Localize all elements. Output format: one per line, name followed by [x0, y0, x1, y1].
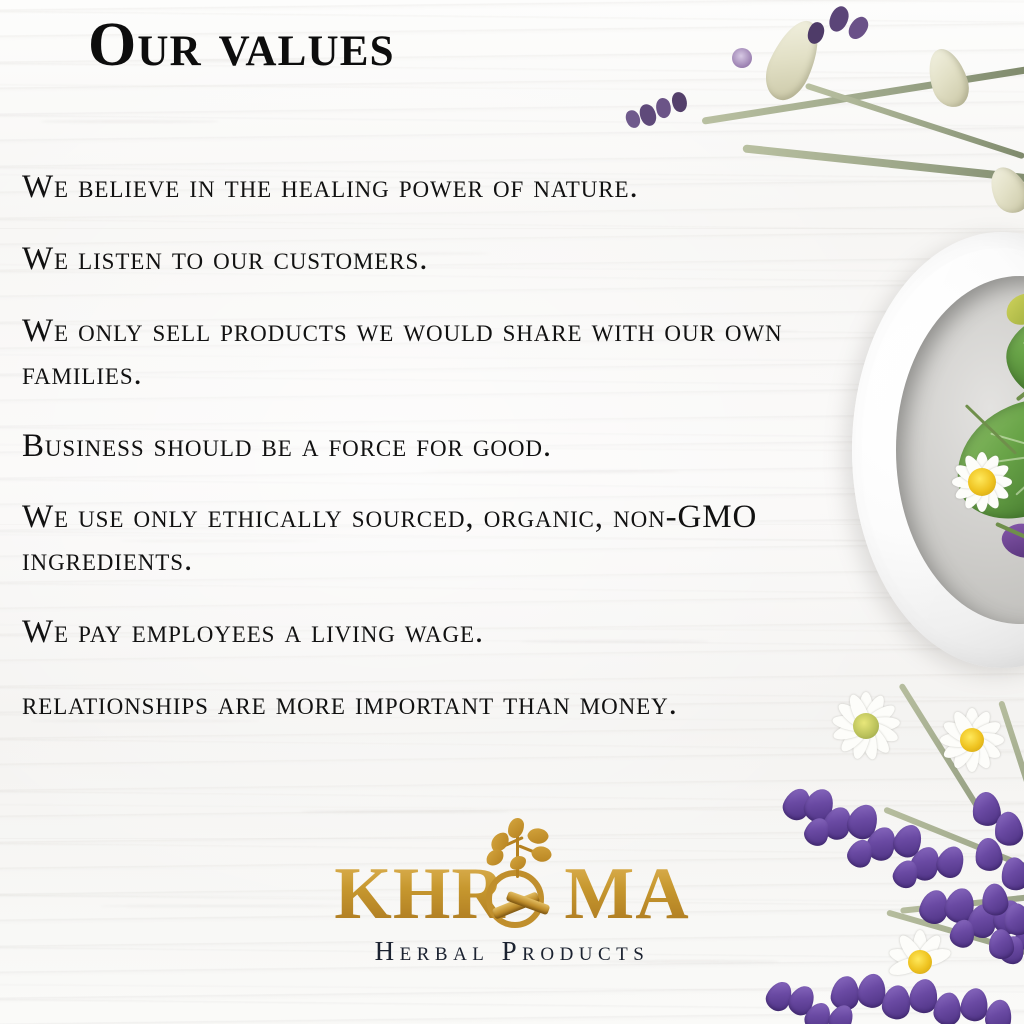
- value-item-listen-customers: We listen to our customers.: [22, 238, 822, 281]
- logo-tagline: Herbal Products: [0, 936, 1024, 967]
- poster-canvas: Our values We believe in the healing pow…: [0, 0, 1024, 1024]
- value-item-force-for-good: Business should be a force for good.: [22, 425, 822, 468]
- page-title: Our values: [88, 14, 395, 76]
- logo-wordmark-khr: KHR: [334, 856, 506, 932]
- logo-wordmark-group: KHROMA: [334, 856, 689, 932]
- value-item-ethically-sourced: We use only ethically sourced, organic, …: [22, 496, 822, 582]
- value-item-relationships: relationships are more important than mo…: [22, 683, 822, 726]
- logo-wordmark-ma: MA: [564, 856, 689, 932]
- value-item-living-wage: We pay employees a living wage.: [22, 611, 822, 654]
- value-item-healing-power: We believe in the healing power of natur…: [22, 166, 822, 209]
- values-list: We believe in the healing power of natur…: [22, 166, 822, 755]
- herb-sprig-icon: [484, 822, 568, 882]
- brand-logo: KHROMA Herbal: [0, 856, 1024, 967]
- poster-content: Our values We believe in the healing pow…: [0, 0, 1024, 1024]
- value-item-own-families: We only sell products we would share wit…: [22, 310, 822, 396]
